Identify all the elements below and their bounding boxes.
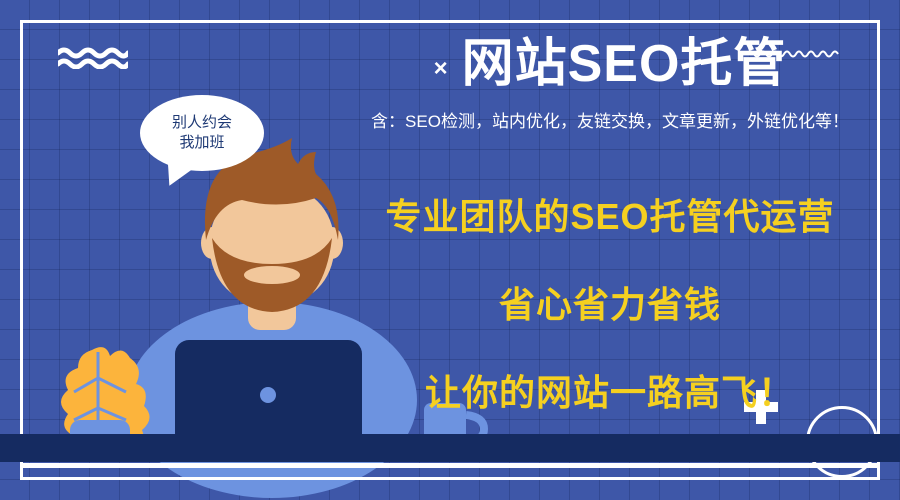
desk-surface bbox=[0, 434, 900, 462]
headline-line-2: 省心省力省钱 bbox=[330, 276, 890, 328]
speech-bubble-line1: 别人约会 bbox=[172, 113, 232, 133]
headline-block: 专业团队的SEO托管代运营 省心省力省钱 让你的网站一路高飞！ bbox=[330, 188, 890, 416]
desk-edge-highlight bbox=[20, 463, 880, 468]
mouth-shape bbox=[244, 266, 300, 284]
double-wave-icon bbox=[58, 47, 128, 69]
x-mark-icon: × bbox=[434, 57, 448, 81]
speech-bubble: 别人约会 我加班 bbox=[140, 95, 264, 171]
headline-line-1: 专业团队的SEO托管代运营 bbox=[330, 188, 890, 240]
headline-line-3: 让你的网站一路高飞！ bbox=[330, 364, 890, 416]
page-subtitle: 含：SEO检测，站内优化，友链交换，文章更新，外链优化等！ bbox=[330, 107, 890, 132]
speech-bubble-line2: 我加班 bbox=[179, 133, 224, 153]
title-row: × 网站SEO托管 bbox=[330, 36, 890, 93]
laptop-logo-icon bbox=[260, 387, 276, 403]
seo-poster: 别人约会 我加班 × 网站SEO托管 含：SEO检测，站内优化，友链交换，文章更… bbox=[0, 0, 900, 500]
page-title: 网站SEO托管 bbox=[462, 36, 787, 93]
header-block: × 网站SEO托管 含：SEO检测，站内优化，友链交换，文章更新，外链优化等！ bbox=[330, 36, 890, 132]
